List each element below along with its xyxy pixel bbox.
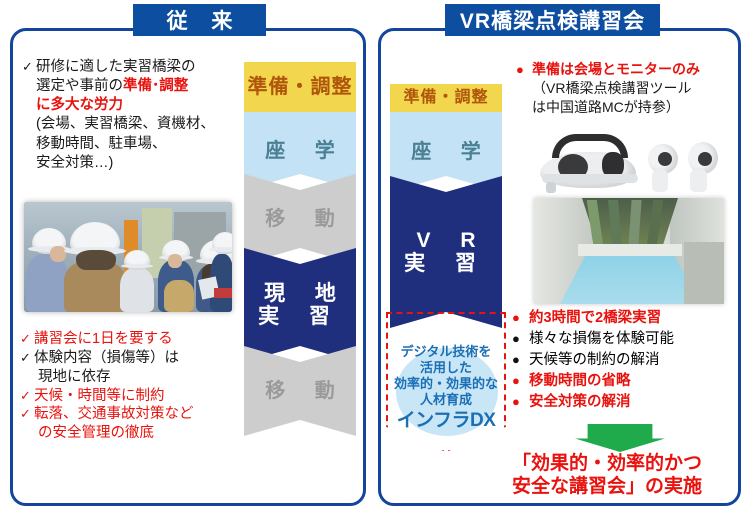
bullet-2-cont: 現地に依存 bbox=[38, 369, 111, 385]
bullet-dot-icon: ● bbox=[512, 330, 529, 349]
vr-headset-photo bbox=[522, 130, 736, 196]
bullet-dot-icon: ● bbox=[516, 61, 532, 79]
conclusion-line-2: 安全な講習会」の実施 bbox=[512, 475, 750, 498]
check-icon: ✓ bbox=[20, 331, 34, 348]
note-line-1: 研修に適した実習橋梁の bbox=[36, 59, 196, 75]
vr-bullet-4: 移動時間の省略 bbox=[529, 373, 631, 389]
vr-bridge-simulation-photo bbox=[534, 198, 724, 304]
flow-step-vr-training: V R実 習 bbox=[390, 176, 502, 328]
vr-bullet-5: 安全対策の解消 bbox=[529, 394, 631, 410]
bullet-dot-icon: ● bbox=[512, 372, 529, 391]
bullet-dot-icon: ● bbox=[512, 309, 529, 328]
panel-title-vr: VR橋梁点検講習会 bbox=[445, 4, 660, 36]
note-line-5: 移動時間、駐車場、 bbox=[22, 135, 237, 154]
flow-step-preparation: 準備・調整 bbox=[390, 84, 502, 112]
vr-bullet-list: ●約3時間で2橋梁実習 ●様々な損傷を体験可能 ●天候等の制約の解消 ●移動時間… bbox=[512, 308, 748, 412]
infra-dx-text: デジタル技術を 活用した 効率的・効果的な 人材育成 インフラDX bbox=[386, 344, 506, 433]
dx-highlight: インフラDX bbox=[386, 409, 506, 432]
flow-step-onsite-training: 現 地実 習 bbox=[244, 248, 356, 362]
dx-line-3: 効率的・効果的な bbox=[394, 376, 498, 391]
check-icon: ✓ bbox=[22, 58, 36, 75]
vr-conclusion: 「効果的・効率的かつ 安全な講習会」の実施 bbox=[512, 452, 750, 498]
bullet-2: 体験内容（損傷等）は bbox=[34, 350, 179, 366]
flow-step-classroom: 座 学 bbox=[244, 112, 356, 190]
vr-note-line-3: は中国道路MCが持参） bbox=[516, 98, 746, 117]
vr-bullet-2: 様々な損傷を体験可能 bbox=[529, 331, 674, 347]
conclusion-line-1: 「効果的・効率的かつ bbox=[512, 452, 750, 475]
bullet-4: 転落、交通事故対策など bbox=[34, 406, 194, 422]
vr-note-line-1: 準備は会場とモニターのみ bbox=[532, 61, 700, 77]
vr-top-note: ●準備は会場とモニターのみ （VR橋梁点検講習ツール は中国道路MCが持参） bbox=[516, 60, 746, 117]
panel-title-traditional: 従 来 bbox=[133, 4, 266, 36]
bullet-3: 天候・時間等に制約 bbox=[34, 388, 165, 404]
vr-note-line-2: （VR橋梁点検講習ツール bbox=[516, 79, 746, 98]
vr-bullet-1: 約3時間で2橋梁実習 bbox=[529, 310, 661, 326]
check-icon: ✓ bbox=[20, 350, 34, 367]
bullet-dot-icon: ● bbox=[512, 393, 529, 412]
bullet-dot-icon: ● bbox=[512, 351, 529, 370]
flow-step-classroom: 座 学 bbox=[390, 112, 502, 192]
flow-step-preparation: 準備・調整 bbox=[244, 62, 356, 112]
check-icon: ✓ bbox=[20, 388, 34, 405]
traditional-bullet-list: ✓講習会に1日を要する ✓体験内容（損傷等）は 現地に依存 ✓天候・時間等に制約… bbox=[20, 330, 240, 443]
dx-line-2: 活用した bbox=[420, 360, 472, 375]
infographic-root: 従 来 ✓研修に適した実習橋梁の 選定や事前の準備･調整 に多大な労力 (会場、… bbox=[0, 0, 751, 525]
flow-step-travel-2: 移 動 bbox=[244, 346, 356, 436]
check-icon: ✓ bbox=[20, 406, 34, 423]
dx-line-4: 人材育成 bbox=[420, 392, 472, 407]
note-line-4: (会場、実習橋梁、資機材、 bbox=[22, 115, 237, 134]
note-line-6: 安全対策…) bbox=[22, 154, 237, 173]
dx-line-1: デジタル技術を bbox=[401, 344, 492, 359]
traditional-flow-diagram: 準備・調整 座 学 移 動 現 地実 習 移 動 bbox=[244, 62, 356, 462]
site-training-photo bbox=[24, 202, 232, 312]
note-line-3: に多大な労力 bbox=[22, 96, 237, 115]
flow-step-travel-1: 移 動 bbox=[244, 174, 356, 264]
bullet-1: 講習会に1日を要する bbox=[34, 331, 173, 347]
vr-bullet-3: 天候等の制約の解消 bbox=[529, 352, 660, 368]
note-line-2: 選定や事前の bbox=[36, 78, 123, 94]
note-line-2-highlight: 準備･調整 bbox=[123, 78, 188, 94]
bullet-4-cont: の安全管理の徹底 bbox=[20, 424, 240, 443]
traditional-top-note: ✓研修に適した実習橋梁の 選定や事前の準備･調整 に多大な労力 (会場、実習橋梁… bbox=[22, 58, 237, 173]
